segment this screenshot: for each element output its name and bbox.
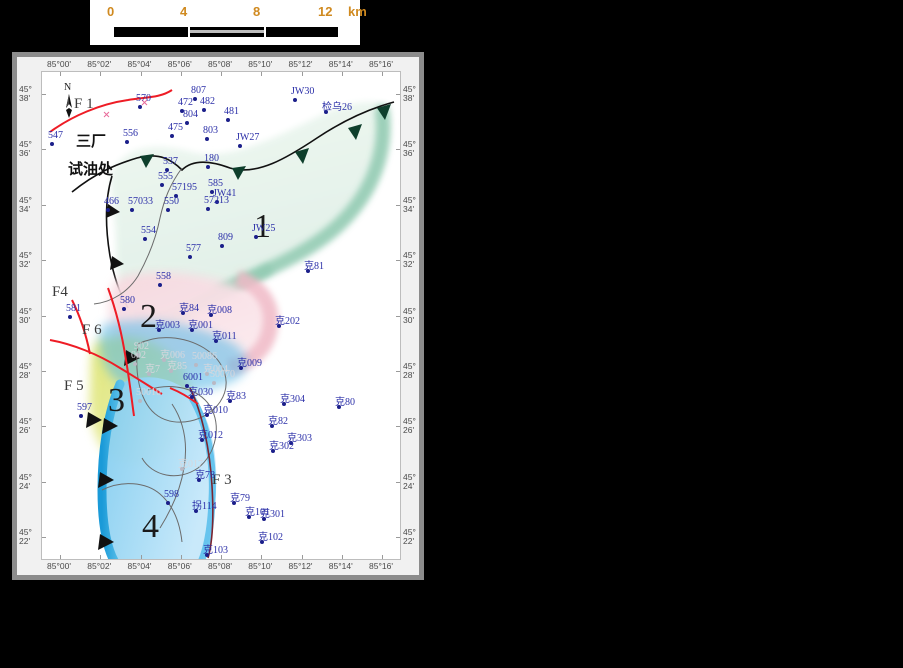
well-label: 581 xyxy=(66,303,81,314)
well-dot-icon xyxy=(190,328,194,332)
well-dot-icon xyxy=(232,501,236,505)
scale-tick-label-4: 4 xyxy=(180,4,187,19)
well-dot-icon xyxy=(194,509,198,513)
well-dot-icon xyxy=(205,137,209,141)
well-label: 580 xyxy=(120,295,135,306)
well-label: 558 xyxy=(156,271,171,282)
longitude-label-top: 85°04' xyxy=(128,59,152,69)
well-dot-icon xyxy=(202,108,206,112)
annotation-san-chang: 三厂 xyxy=(76,130,106,151)
well-label: 803 xyxy=(203,125,218,136)
well-label: 57213 xyxy=(204,195,229,206)
longitude-label-bottom: 85°02' xyxy=(87,561,111,571)
graticule-tick xyxy=(396,260,400,261)
latitude-label-right: 45°32' xyxy=(403,251,416,269)
graticule-tick xyxy=(42,482,46,483)
scale-tick-label-12: 12 xyxy=(318,4,332,19)
graticule-tick xyxy=(181,72,182,76)
well-dot-icon xyxy=(138,105,142,109)
well-dot-icon xyxy=(68,315,72,319)
well-label: 807 xyxy=(191,85,206,96)
well-dot-icon xyxy=(166,208,170,212)
latitude-label-right: 45°34' xyxy=(403,196,416,214)
fault-label-F4: F4 xyxy=(52,284,68,301)
well-label: 547 xyxy=(48,130,63,141)
map-canvas[interactable]: N 三厂 试油处 F 1 F4 F 6 F 5 F 3 1 2 3 4 5705… xyxy=(41,71,401,560)
latitude-label-right: 45°26' xyxy=(403,417,416,435)
latitude-label-right: 45°24' xyxy=(403,473,416,491)
longitude-label-bottom: 85°00' xyxy=(47,561,71,571)
well-dot-icon xyxy=(125,140,129,144)
longitude-label-bottom: 85°16' xyxy=(369,561,393,571)
well-dot-icon xyxy=(271,449,275,453)
latitude-label-left: 45°22' xyxy=(19,528,32,546)
fault-label-F1: F 1 xyxy=(74,96,94,113)
graticule-tick xyxy=(396,371,400,372)
graticule-tick xyxy=(42,316,46,317)
well-dot-icon xyxy=(226,118,230,122)
well-label: 597 xyxy=(77,402,92,413)
well-label: 466 xyxy=(104,196,119,207)
well-dot-icon xyxy=(122,307,126,311)
well-label: JW27 xyxy=(236,132,259,143)
latitude-label-right: 45°30' xyxy=(403,307,416,325)
well-dot-icon xyxy=(162,358,166,362)
graticule-tick xyxy=(342,72,343,76)
graticule-tick xyxy=(141,72,142,76)
longitude-label-bottom: 85°10' xyxy=(248,561,272,571)
well-dot-icon xyxy=(160,183,164,187)
well-dot-icon xyxy=(188,255,192,259)
longitude-label-bottom: 85°12' xyxy=(289,561,313,571)
scale-bar-tick xyxy=(264,27,266,37)
latitude-label-left: 45°30' xyxy=(19,307,32,325)
well-label: 804 xyxy=(183,109,198,120)
latitude-label-right: 45°36' xyxy=(403,140,416,158)
map-frame: 85°00'85°02'85°04'85°06'85°08'85°10'85°1… xyxy=(12,52,424,580)
well-label: 482 xyxy=(200,96,215,107)
well-label: 554 xyxy=(141,225,156,236)
well-dot-icon xyxy=(238,144,242,148)
well-dot-icon xyxy=(206,207,210,211)
scale-bar-inner-segment xyxy=(190,30,264,33)
compass-north-label: N xyxy=(64,82,71,93)
latitude-label-left: 45°36' xyxy=(19,140,32,158)
well-dot-icon xyxy=(220,244,224,248)
well-label: 50070 xyxy=(210,369,235,380)
scale-bar-panel: 0 4 8 12 km xyxy=(90,0,360,45)
longitude-label-top: 85°16' xyxy=(369,59,393,69)
graticule-tick xyxy=(42,426,46,427)
well-label: JW25 xyxy=(252,223,275,234)
well-label: 180 xyxy=(204,153,219,164)
graticule-tick xyxy=(42,205,46,206)
longitude-label-top: 85°14' xyxy=(329,59,353,69)
scale-bar-tick xyxy=(112,27,114,37)
graticule-tick xyxy=(261,72,262,76)
well-dot-icon xyxy=(254,235,258,239)
latitude-label-left: 45°28' xyxy=(19,362,32,380)
well-label: 570 xyxy=(136,93,151,104)
graticule-tick xyxy=(221,72,222,76)
well-label: 598 xyxy=(164,489,179,500)
latitude-label-left: 45°38' xyxy=(19,85,32,103)
well-label: 537 xyxy=(163,156,178,167)
well-dot-icon xyxy=(306,269,310,273)
scale-bar-tick xyxy=(338,27,340,37)
graticule-tick xyxy=(221,555,222,559)
well-dot-icon xyxy=(197,478,201,482)
well-dot-icon xyxy=(50,142,54,146)
graticule-tick xyxy=(302,555,303,559)
well-dot-icon xyxy=(147,372,151,376)
longitude-label-top: 85°02' xyxy=(87,59,111,69)
latitude-label-right: 45°22' xyxy=(403,528,416,546)
well-dot-icon xyxy=(206,165,210,169)
well-label: 475 xyxy=(168,122,183,133)
well-dot-icon xyxy=(181,311,185,315)
well-label: 472 xyxy=(178,97,193,108)
longitude-label-bottom: 85°04' xyxy=(128,561,152,571)
latitude-label-left: 45°34' xyxy=(19,196,32,214)
scale-tick-label-0: 0 xyxy=(107,4,114,19)
well-dot-icon xyxy=(282,402,286,406)
well-label: 57033 xyxy=(128,196,153,207)
well-dot-icon xyxy=(130,208,134,212)
well-dot-icon xyxy=(214,339,218,343)
well-label: 481 xyxy=(224,106,239,117)
graticule-tick xyxy=(396,94,400,95)
latitude-label-right: 45°38' xyxy=(403,85,416,103)
well-dot-icon xyxy=(185,121,189,125)
well-dot-icon xyxy=(193,97,197,101)
well-dot-icon xyxy=(106,208,110,212)
graticule-tick xyxy=(100,555,101,559)
longitude-label-top: 85°00' xyxy=(47,59,71,69)
well-dot-icon xyxy=(200,438,204,442)
well-dot-icon xyxy=(228,399,232,403)
well-dot-icon xyxy=(190,395,194,399)
well-dot-icon xyxy=(180,467,184,471)
graticule-tick xyxy=(60,555,61,559)
well-label: 556 xyxy=(123,128,138,139)
well-dot-icon xyxy=(157,328,161,332)
graticule-tick xyxy=(42,371,46,372)
well-dot-icon xyxy=(205,372,209,376)
well-dot-icon xyxy=(205,553,209,557)
well-label: 555 xyxy=(158,171,173,182)
well-dot-icon xyxy=(324,110,328,114)
well-dot-icon xyxy=(239,366,243,370)
well-label: 550 xyxy=(164,196,179,207)
well-dot-icon xyxy=(337,405,341,409)
well-dot-icon xyxy=(247,515,251,519)
well-dot-icon xyxy=(194,363,198,367)
graticule-tick xyxy=(382,555,383,559)
latitude-label-right: 45°28' xyxy=(403,362,416,380)
latitude-label-left: 45°32' xyxy=(19,251,32,269)
well-label: 577 xyxy=(186,243,201,254)
well-dot-icon xyxy=(166,501,170,505)
graticule-tick xyxy=(396,426,400,427)
well-dot-icon xyxy=(79,414,83,418)
graticule-tick xyxy=(396,316,400,317)
well-label: 809 xyxy=(218,232,233,243)
well-dot-icon xyxy=(260,540,264,544)
scale-tick-label-8: 8 xyxy=(253,4,260,19)
well-dot-icon xyxy=(262,517,266,521)
graticule-tick xyxy=(396,482,400,483)
graticule-tick xyxy=(382,72,383,76)
graticule-tick xyxy=(396,149,400,150)
graticule-tick xyxy=(60,72,61,76)
well-dot-icon xyxy=(170,134,174,138)
graticule-tick xyxy=(261,555,262,559)
annotation-shi-you-chu: 试油处 xyxy=(68,158,113,179)
well-dot-icon xyxy=(277,324,281,328)
well-label: 50010 xyxy=(136,387,161,398)
well-dot-icon xyxy=(293,98,297,102)
graticule-tick xyxy=(42,94,46,95)
fault-label-F5: F 5 xyxy=(64,378,84,395)
well-dot-icon xyxy=(158,283,162,287)
well-dot-icon xyxy=(143,237,147,241)
graticule-tick xyxy=(100,72,101,76)
well-label: 002 xyxy=(131,350,146,361)
graticule-tick xyxy=(141,555,142,559)
well-label: 6001 xyxy=(183,372,203,383)
graticule-tick xyxy=(396,537,400,538)
well-dot-icon xyxy=(270,424,274,428)
longitude-label-bottom: 85°14' xyxy=(329,561,353,571)
well-dot-icon xyxy=(205,413,209,417)
well-dot-icon xyxy=(133,362,137,366)
scale-unit-label: km xyxy=(348,4,367,19)
well-dot-icon xyxy=(138,399,142,403)
longitude-label-top: 85°10' xyxy=(248,59,272,69)
longitude-label-top: 85°06' xyxy=(168,59,192,69)
latitude-label-left: 45°26' xyxy=(19,417,32,435)
graticule-tick xyxy=(342,555,343,559)
region-number-4: 4 xyxy=(142,510,159,544)
well-dot-icon xyxy=(169,369,173,373)
longitude-label-bottom: 85°08' xyxy=(208,561,232,571)
well-label: JW30 xyxy=(291,86,314,97)
graticule-tick xyxy=(42,149,46,150)
graticule-tick xyxy=(396,205,400,206)
region-number-3: 3 xyxy=(108,384,125,418)
longitude-label-bottom: 85°06' xyxy=(168,561,192,571)
latitude-label-left: 45°24' xyxy=(19,473,32,491)
longitude-label-top: 85°08' xyxy=(208,59,232,69)
graticule-tick xyxy=(302,72,303,76)
graticule-tick xyxy=(42,537,46,538)
graticule-tick xyxy=(42,260,46,261)
fault-label-F6: F 6 xyxy=(82,322,102,339)
graticule-tick xyxy=(181,555,182,559)
scale-bar-graphic xyxy=(112,27,340,37)
longitude-label-top: 85°12' xyxy=(289,59,313,69)
well-label: 57195 xyxy=(172,182,197,193)
scale-bar-labels: 0 4 8 12 km xyxy=(90,4,360,22)
